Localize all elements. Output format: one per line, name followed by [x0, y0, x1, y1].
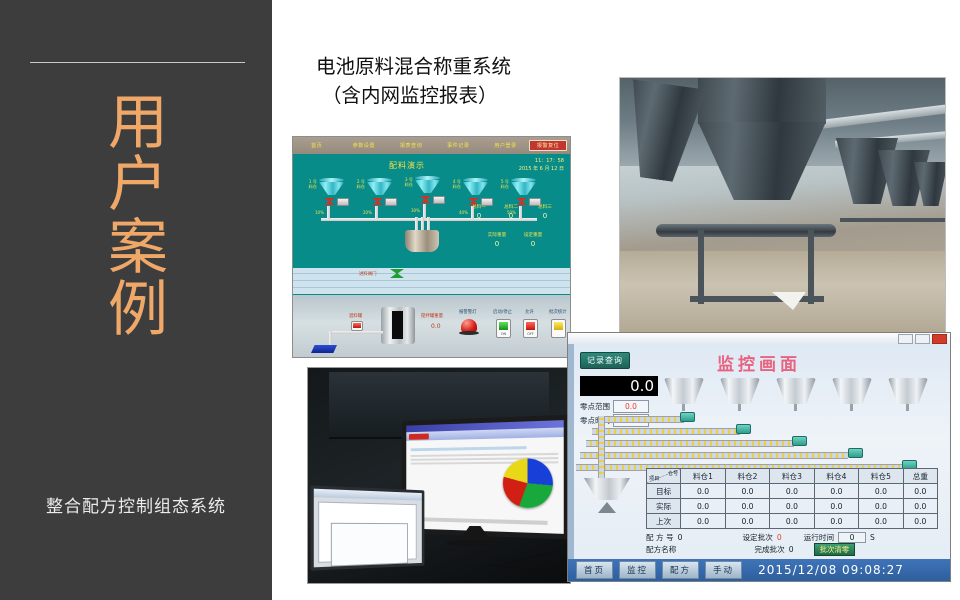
- start-stop-button[interactable]: ON: [496, 319, 511, 338]
- run-enable-label: 允许: [525, 309, 534, 315]
- col-bin-5: 料仓5: [859, 469, 903, 484]
- run-time-label: 运行时间: [804, 532, 834, 543]
- hmi-tile-wall: [293, 268, 570, 294]
- readout-total-2: 总料二 0: [497, 204, 525, 220]
- run-enable-button[interactable]: OFF: [523, 319, 538, 338]
- start-stop-button-state: ON: [497, 332, 510, 336]
- cell-last-5: 0.0: [859, 514, 903, 529]
- window-controls[interactable]: [898, 334, 947, 344]
- col-bin-1: 料仓1: [681, 469, 725, 484]
- batch-data-table: 项目 仓号 料仓1 料仓2 料仓3 料仓4 料仓5 总重 目标 0.0 0.0 …: [646, 468, 938, 529]
- corner-row-label: 项目: [649, 475, 659, 482]
- silo-1-lid: [319, 178, 344, 182]
- hmi2-hopper-1-body: [664, 378, 704, 404]
- hmi-menu-params[interactable]: 参数设置: [340, 142, 387, 149]
- done-batch-value: 0: [789, 545, 794, 554]
- hmi2-weigh-hopper: [584, 478, 630, 500]
- silo-2-body: [367, 182, 392, 195]
- plant-support-frame-2: [808, 230, 814, 304]
- hmi2-hopper-1[interactable]: [664, 378, 704, 404]
- cell-target-5: 0.0: [859, 484, 903, 499]
- deck-title-line1: 电池原料混合称重系统: [316, 55, 511, 78]
- hmi2-footer-fields: 配 方 号 0 设定批次 0 运行时间 0 S 配方名称 完成批次 0: [646, 531, 938, 555]
- desktop-monitor: [402, 415, 569, 540]
- plant-photo: [620, 78, 945, 336]
- row-label-last: 上次: [647, 514, 681, 529]
- silo-4[interactable]: 4 号料仓: [463, 178, 488, 195]
- readout-actual-weight-label: 实际重量: [481, 232, 513, 238]
- deck-title-line2: （含内网监控报表）: [316, 81, 616, 110]
- hmi-machine-room: 进料阀门 混料罐 搅拌罐重量 0.0 报警警灯 启动/停止 ON 允许: [293, 295, 570, 357]
- silo-2-label: 2 号料仓: [355, 180, 365, 190]
- col-total: 总重: [903, 469, 937, 484]
- readout-total-3: 总料三 0: [531, 204, 559, 220]
- hmi2-hopper-1-spout: [682, 404, 685, 411]
- silo-4-lid: [463, 178, 488, 182]
- silo-3-label: 3 号料仓: [403, 178, 413, 188]
- mixing-tank-sight-glass: [392, 311, 403, 339]
- laptop-titlebar: [314, 489, 422, 501]
- run-enable-button-state: OFF: [524, 332, 537, 336]
- left-title-panel: 用 户 案 例 整合配方控制组态系统: [0, 0, 272, 600]
- cell-actual-5: 0.0: [859, 499, 903, 514]
- readout-set-weight-label: 设定重量: [517, 232, 549, 238]
- report-pie-chart: [503, 458, 553, 508]
- hmi-clock: 11：17：58 2015 年 6 月 12 日: [519, 158, 564, 173]
- cell-last-total: 0.0: [903, 514, 937, 529]
- silo-5-lid: [511, 178, 536, 182]
- readout-total-3-value: 0: [531, 212, 559, 220]
- cell-target-total: 0.0: [903, 484, 937, 499]
- hmi2-motor-3: [792, 436, 807, 446]
- monitor-base: [446, 540, 504, 546]
- hmi2-hopper-2-body: [720, 378, 760, 404]
- table-corner-cell: 项目 仓号: [647, 469, 681, 484]
- readout-total-2-label: 总料二: [497, 204, 525, 210]
- valve-1[interactable]: [324, 198, 335, 205]
- hmi2-hopper-5[interactable]: [888, 378, 928, 404]
- set-batch-value[interactable]: 0: [777, 533, 782, 542]
- cell-actual-total: 0.0: [903, 499, 937, 514]
- readout-set-weight: 设定重量 0: [517, 232, 549, 248]
- table-row: 实际 0.0 0.0 0.0 0.0 0.0 0.0: [647, 499, 938, 514]
- batch-count-button[interactable]: [551, 319, 566, 338]
- report-status-bar: [411, 517, 548, 525]
- hmi2-riser-1: [598, 416, 605, 478]
- hmi2-hopper-3-spout: [794, 404, 797, 411]
- slide-root: 用 户 案 例 整合配方控制组态系统 电池原料混合称重系统 （含内网监控报表） …: [0, 0, 960, 600]
- col-bin-3: 料仓3: [770, 469, 814, 484]
- hmi-menu-bar[interactable]: 首页 参数设置 报表查询 事件记录 用户登录 报警复位: [293, 137, 570, 154]
- lower-feed-pipe: [329, 331, 383, 334]
- nav-manual-button[interactable]: 手动: [705, 561, 742, 579]
- corner-col-label: 仓号: [668, 470, 678, 477]
- plant-support-frame-rail: [690, 296, 824, 302]
- nav-recipe-button[interactable]: 配方: [662, 561, 699, 579]
- nav-home-button[interactable]: 首页: [576, 561, 613, 579]
- silo-1-label: 1 号料仓: [307, 180, 317, 190]
- silo-2-pct: 20%: [363, 210, 372, 215]
- zero-range-value[interactable]: 0.0: [613, 400, 649, 413]
- valve-2[interactable]: [372, 198, 383, 205]
- laptop-dialog: [331, 523, 408, 567]
- hmi2-hopper-4-spout: [850, 404, 853, 411]
- hmi2-title: 监控画面: [568, 350, 950, 375]
- maximize-icon[interactable]: [915, 334, 930, 344]
- hmi2-hopper-5-body: [888, 378, 928, 404]
- readout-total-2-value: 0: [497, 212, 525, 220]
- hmi2-left-strip: [568, 344, 574, 581]
- lower-discharge-valve[interactable]: [390, 269, 404, 278]
- silo-1-pct: 10%: [315, 210, 324, 215]
- plant-row-rail: [840, 218, 945, 222]
- hmi2-hopper-3-body: [776, 378, 816, 404]
- monitor-screen: [406, 420, 563, 534]
- silo-1[interactable]: 1 号料仓: [319, 178, 344, 195]
- readout-actual-weight-value: 0: [481, 240, 513, 248]
- cell-last-3: 0.0: [770, 514, 814, 529]
- laptop: [311, 485, 425, 570]
- done-batch-label: 完成批次: [754, 544, 784, 555]
- zero-range-row: 零点范围 0.0: [580, 400, 649, 413]
- tank-weight-value: 0.0: [431, 323, 441, 330]
- cell-actual-3: 0.0: [770, 499, 814, 514]
- hmi2-hopper-4-body: [832, 378, 872, 404]
- recipe-no-label: 配 方 号: [646, 532, 674, 543]
- hmi2-scale-pivot-icon: [598, 502, 616, 513]
- plant-hopper-main-top: [698, 78, 826, 124]
- report-red-button: [409, 434, 429, 440]
- lower-feed-pipe-down: [329, 331, 332, 345]
- cell-actual-1: 0.0: [681, 499, 725, 514]
- table-row: 目标 0.0 0.0 0.0 0.0 0.0 0.0: [647, 484, 938, 499]
- cell-actual-4: 0.0: [814, 499, 858, 514]
- hmi-menu-home[interactable]: 首页: [293, 142, 340, 149]
- alarm-lamp-label: 报警警灯: [459, 309, 477, 315]
- current-weight-display: 0.0: [580, 376, 658, 396]
- cell-actual-2: 0.0: [725, 499, 769, 514]
- drop-pipe-1: [327, 206, 330, 219]
- run-time-unit: S: [870, 533, 875, 542]
- readout-total-1: 总料一 0: [465, 204, 493, 220]
- feeder-motor-2: [385, 198, 397, 206]
- hmi2-motor-1: [680, 412, 695, 422]
- hmi2-hopper-5-spout: [906, 404, 909, 411]
- silo-3-pct: 30%: [411, 208, 420, 213]
- hmi2-conveyor-3: [586, 440, 794, 447]
- start-stop-label: 启动/停止: [493, 309, 512, 315]
- hmi2-motor-2: [736, 424, 751, 434]
- collector-mixer: [405, 230, 439, 252]
- deck-title: 电池原料混合称重系统 （含内网监控报表）: [316, 52, 616, 111]
- mixer-inlet-pipe-c: [427, 217, 430, 231]
- hmi-menu-login[interactable]: 用户登录: [482, 142, 529, 149]
- silo-5-label: 5 号料仓: [499, 180, 509, 190]
- hmi2-hopper-2[interactable]: [720, 378, 760, 404]
- recipe-no-value[interactable]: 0: [678, 533, 683, 542]
- hmi-clock-date: 2015 年 6 月 12 日: [519, 166, 564, 174]
- silo-3-lid: [415, 176, 440, 180]
- report-header-bar: [411, 446, 527, 451]
- drop-pipe-2: [375, 206, 378, 219]
- nav-monitor-button[interactable]: 监控: [619, 561, 656, 579]
- hmi2-hopper-4[interactable]: [832, 378, 872, 404]
- discharge-tray: [311, 345, 337, 353]
- mixer-inlet-pipe-a: [415, 217, 418, 231]
- lower-inline-valve-label: 混料罐: [349, 313, 362, 319]
- silo-2-lid: [367, 178, 392, 182]
- silo-3[interactable]: 3 号料仓: [415, 176, 440, 193]
- office-photo: [308, 368, 570, 583]
- subtitle: 整合配方控制组态系统: [0, 492, 272, 517]
- hmi2-hopper-2-spout: [738, 404, 741, 411]
- mixing-tank: [381, 307, 415, 344]
- hmi-menu-reports[interactable]: 报表查询: [387, 142, 434, 149]
- alarm-lamp-base: [459, 331, 479, 335]
- cell-last-1: 0.0: [681, 514, 725, 529]
- hmi2-body: 记录查询 监控画面 0.0 零点范围 0.0 零点时间 0.00: [568, 344, 950, 581]
- table-row: 上次 0.0 0.0 0.0 0.0 0.0 0.0: [647, 514, 938, 529]
- row-label-actual: 实际: [647, 499, 681, 514]
- hmi-caption: 配料演示: [389, 160, 425, 171]
- footer-line-1: 配 方 号 0 设定批次 0 运行时间 0 S: [646, 531, 938, 543]
- lower-inline-valve[interactable]: [351, 321, 363, 331]
- lower-valve-label: 进料阀门: [359, 271, 377, 277]
- valve-3[interactable]: [420, 196, 431, 203]
- silo-4-body: [463, 182, 488, 195]
- hmi2-nav-bar[interactable]: 首页 监控 配方 手动 2015/12/08 09:08:27: [568, 559, 950, 581]
- close-icon[interactable]: [932, 334, 947, 344]
- hmi-menu-events[interactable]: 事件记录: [435, 142, 482, 149]
- readout-total-1-label: 总料一: [465, 204, 493, 210]
- hmi2-clock: 2015/12/08 09:08:27: [758, 563, 904, 577]
- title-divider-rule: [30, 62, 245, 63]
- recipe-name-label: 配方名称: [646, 544, 676, 555]
- hmi-alarm-reset-button[interactable]: 报警复位: [529, 140, 567, 151]
- cell-last-4: 0.0: [814, 514, 858, 529]
- silo-5[interactable]: 5 号料仓: [511, 178, 536, 195]
- hmi2-hopper-3[interactable]: [776, 378, 816, 404]
- run-time-value: 0: [838, 532, 866, 543]
- feeder-motor-1: [337, 198, 349, 206]
- col-bin-4: 料仓4: [814, 469, 858, 484]
- cell-target-4: 0.0: [814, 484, 858, 499]
- table-header-row: 项目 仓号 料仓1 料仓2 料仓3 料仓4 料仓5 总重: [647, 469, 938, 484]
- row-label-target: 目标: [647, 484, 681, 499]
- batch-count-label: 批次统计: [549, 309, 567, 315]
- hmi2-conveyor-4: [580, 452, 848, 459]
- readout-total-1-value: 0: [465, 212, 493, 220]
- footer-line-2: 配方名称 完成批次 0 批次清零: [646, 543, 938, 555]
- silo-4-label: 4 号料仓: [451, 180, 461, 190]
- zero-range-label: 零点范围: [580, 401, 610, 412]
- set-batch-label: 设定批次: [742, 532, 772, 543]
- cell-target-2: 0.0: [725, 484, 769, 499]
- hmi2-conveyor-2: [592, 428, 740, 435]
- feeder-motor-3: [433, 196, 445, 204]
- readout-set-weight-value: 0: [517, 240, 549, 248]
- clear-batch-button[interactable]: 批次清零: [814, 543, 856, 556]
- hmi-batching-screen[interactable]: 首页 参数设置 报表查询 事件记录 用户登录 报警复位 配料演示 11：17：5…: [293, 137, 570, 357]
- mixer-inlet-pipe-b: [421, 217, 424, 231]
- tank-weight-label: 搅拌罐重量: [421, 313, 443, 319]
- hmi2-motor-4: [848, 448, 863, 458]
- hmi-clock-time: 11：17：58: [519, 158, 564, 166]
- page-title: 用 户 案 例: [90, 92, 186, 342]
- hmi-monitoring-screen[interactable]: 记录查询 监控画面 0.0 零点范围 0.0 零点时间 0.00: [568, 333, 950, 581]
- hmi2-conveyor-1: [598, 416, 684, 423]
- readout-actual-weight: 实际重量 0: [481, 232, 513, 248]
- hmi2-weigh-hopper-body: [584, 478, 630, 500]
- silo-1-body: [319, 182, 344, 195]
- cell-target-1: 0.0: [681, 484, 725, 499]
- col-bin-2: 料仓2: [725, 469, 769, 484]
- cell-target-3: 0.0: [770, 484, 814, 499]
- silo-5-body: [511, 182, 536, 195]
- cell-last-2: 0.0: [725, 514, 769, 529]
- readout-total-3-label: 总料三: [531, 204, 559, 210]
- minimize-icon[interactable]: [898, 334, 913, 344]
- silo-3-body: [415, 180, 440, 193]
- silo-2[interactable]: 2 号料仓: [367, 178, 392, 195]
- plant-support-frame-1: [698, 230, 704, 304]
- alarm-lamp: [461, 319, 477, 332]
